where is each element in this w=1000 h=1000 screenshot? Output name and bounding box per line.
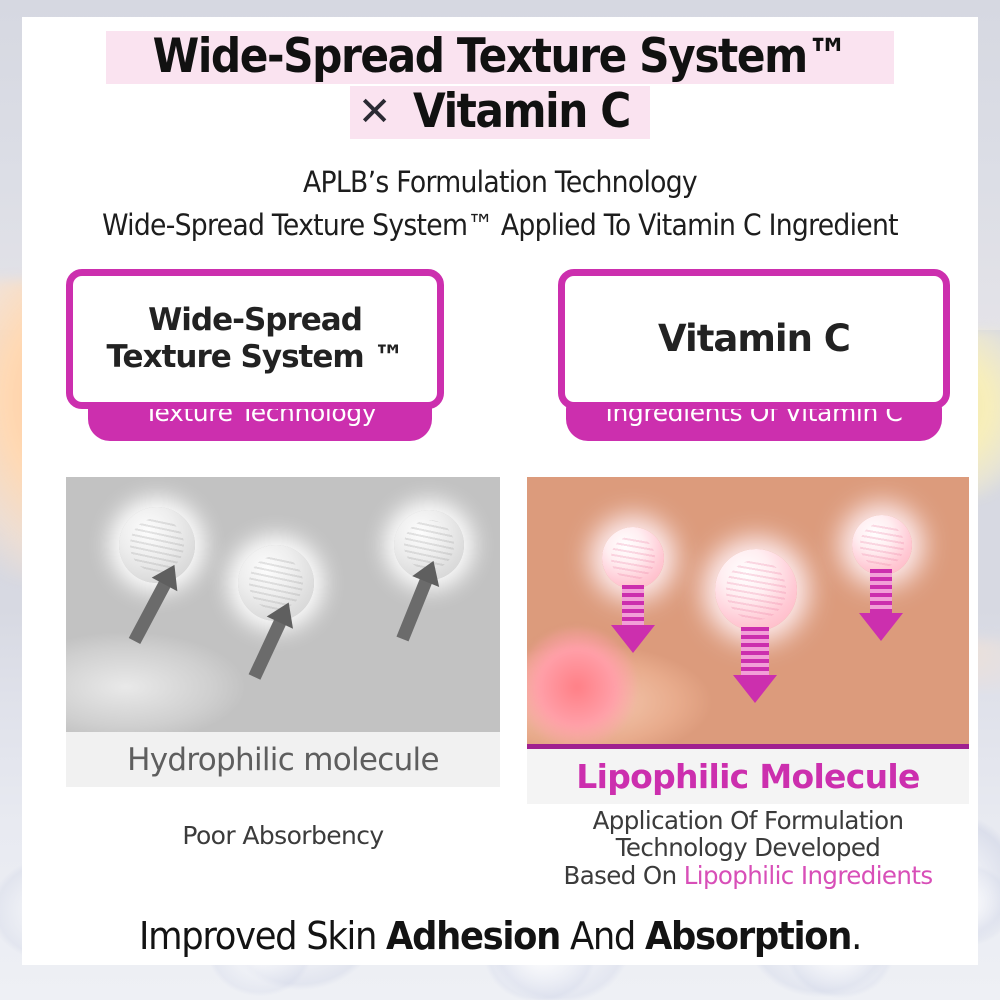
molecule-sphere — [852, 515, 912, 575]
formula-box-vitamin-c: Vitamin C Ingredients Of Vitamin C — [558, 269, 950, 441]
formula-box-left-title-line1: Wide-Spread — [148, 302, 362, 338]
footer-bold-absorption: Absorption — [645, 914, 851, 958]
headline-highlight-1: Wide-Spread Texture System™ — [106, 31, 894, 84]
formula-box-right-body: Vitamin C — [558, 269, 950, 409]
lipophilic-note-line-1: Application Of Formulation — [527, 807, 969, 834]
footer-part-3: . — [851, 914, 861, 958]
lipophilic-note: Application Of Formulation Technology De… — [527, 807, 969, 889]
headline-text-1: Wide-Spread Texture System™ — [153, 33, 848, 80]
headline-line-2: ✕Vitamin C — [22, 86, 978, 139]
lipophilic-scene — [527, 477, 969, 749]
formula-box-left-body: Wide-Spread Texture System ™ — [66, 269, 444, 409]
headline-line-1: Wide-Spread Texture System™ — [22, 31, 978, 84]
lipophilic-note-line-3: Based On Lipophilic Ingredients — [527, 862, 969, 889]
formula-box-left-title-line2: Texture System ™ — [107, 339, 404, 375]
repel-arrow-icon — [249, 613, 290, 680]
hydrophilic-molecule-image — [66, 477, 500, 732]
comparison-panels: Hydrophilic molecule Lipophi — [22, 477, 978, 807]
formula-box-right-title: Vitamin C — [658, 317, 850, 361]
subheading-line-1: APLB’s Formulation Technology — [60, 165, 940, 199]
lipophilic-caption: Lipophilic Molecule — [527, 749, 969, 804]
formula-row: Wide-Spread Texture System ™ Texture Tec… — [22, 269, 978, 459]
molecule-sphere — [715, 549, 797, 631]
footer-bold-adhesion: Adhesion — [386, 914, 560, 958]
absorb-arrow-icon — [622, 585, 644, 627]
footer-part-2: And — [560, 914, 645, 958]
lipophilic-note-line-3-accent: Lipophilic Ingredients — [684, 861, 933, 890]
subheading-line-2: Wide-Spread Texture System™ Applied To V… — [60, 208, 940, 242]
lipophilic-note-line-2: Technology Developed — [527, 834, 969, 861]
formula-box-texture-system: Wide-Spread Texture System ™ Texture Tec… — [66, 269, 444, 441]
panel-hydrophilic: Hydrophilic molecule — [66, 477, 500, 787]
panel-notes-row: Poor Absorbency Application Of Formulati… — [22, 807, 978, 912]
repel-arrow-icon — [396, 572, 434, 642]
promo-graphic-stage: Wide-Spread Texture System™ ✕Vitamin C A… — [0, 0, 1000, 1000]
lipophilic-note-line-3-prefix: Based On — [563, 861, 683, 890]
content-card: Wide-Spread Texture System™ ✕Vitamin C A… — [22, 17, 978, 965]
headline-text-2: Vitamin C — [413, 88, 630, 135]
molecule-sphere — [602, 527, 664, 589]
multiply-x-icon: ✕ — [358, 90, 392, 134]
lipophilic-molecule-image — [527, 477, 969, 749]
repel-arrow-icon — [129, 574, 174, 644]
headline-highlight-2: ✕Vitamin C — [350, 86, 650, 139]
absorb-arrow-icon — [741, 627, 769, 677]
hydrophilic-caption: Hydrophilic molecule — [66, 732, 500, 787]
hydrophilic-note: Poor Absorbency — [66, 807, 500, 850]
footer-tagline: Improved Skin Adhesion And Absorption. — [55, 914, 944, 958]
panel-lipophilic: Lipophilic Molecule — [527, 477, 969, 804]
formula-box-left-title: Wide-Spread Texture System ™ — [107, 302, 404, 375]
headline-block: Wide-Spread Texture System™ ✕Vitamin C — [22, 31, 978, 139]
footer-part-1: Improved Skin — [139, 914, 386, 958]
hydrophilic-scene — [66, 477, 500, 732]
lipophilic-image-underline — [527, 744, 969, 749]
absorb-arrow-icon — [870, 569, 892, 615]
